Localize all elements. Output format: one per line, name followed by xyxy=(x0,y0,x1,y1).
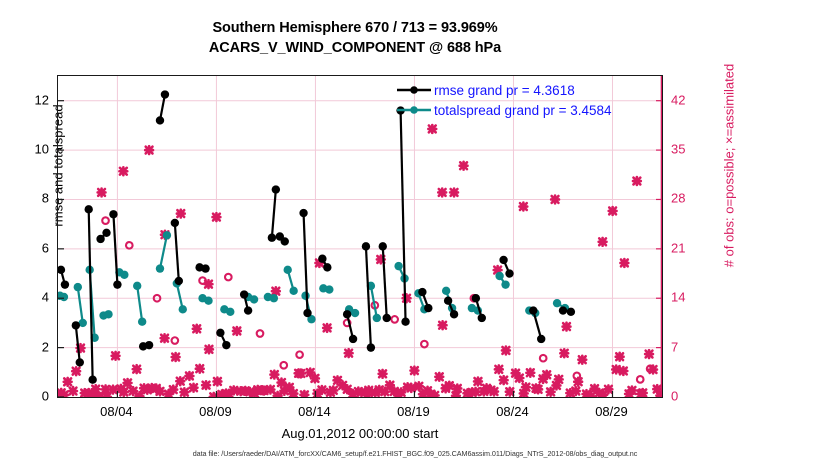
obs-assimilated-marker xyxy=(495,365,503,373)
rmse-point xyxy=(222,341,230,349)
rmse-segment xyxy=(272,190,276,238)
x-axis-label: Aug.01,2012 00:00:00 start xyxy=(57,426,663,441)
totalspread-segment xyxy=(137,286,142,322)
rmse-segment xyxy=(366,246,371,347)
obs-possible-marker xyxy=(574,373,581,380)
obs-assimilated-marker xyxy=(161,334,169,342)
rmse-point xyxy=(102,229,110,237)
rmse-point xyxy=(529,306,537,314)
totalspread-point xyxy=(442,287,450,295)
y-tick-label-left: 2 xyxy=(9,339,49,354)
rmse-point xyxy=(472,294,480,302)
obs-assimilated-marker xyxy=(270,371,278,379)
obs-assimilated-marker xyxy=(506,388,514,396)
obs-possible-marker xyxy=(280,362,287,369)
obs-assimilated-marker xyxy=(172,353,180,361)
obs-assimilated-marker xyxy=(403,294,411,302)
rmse-point xyxy=(318,255,326,263)
rmse-point xyxy=(244,306,252,314)
obs-assimilated-marker xyxy=(628,387,636,395)
totalspread-point xyxy=(104,310,112,318)
obs-assimilated-marker xyxy=(551,196,559,204)
y-tick-label-right: 7 xyxy=(671,339,711,354)
obs-possible-marker xyxy=(102,217,109,224)
obs-assimilated-marker xyxy=(572,387,580,395)
obs-assimilated-marker xyxy=(136,392,144,397)
obs-assimilated-marker xyxy=(472,388,480,396)
chart-title-line-2: ACARS_V_WIND_COMPONENT @ 688 hPa xyxy=(0,38,710,58)
observation-diagnostic-figure: Southern Hemisphere 670 / 713 = 93.969% … xyxy=(0,0,830,470)
rmse-point xyxy=(281,237,289,245)
totalspread-point xyxy=(373,314,381,322)
totalspread-point xyxy=(351,309,359,317)
obs-assimilated-marker xyxy=(124,379,132,387)
obs-assimilated-marker xyxy=(177,210,185,218)
chart-legend: rmse grand pr = 4.3618 totalspread grand… xyxy=(396,80,612,120)
totalspread-point xyxy=(394,262,402,270)
y-tick-label-left: 4 xyxy=(9,290,49,305)
obs-assimilated-marker xyxy=(428,125,436,133)
rmse-point xyxy=(499,256,507,264)
rmse-point xyxy=(303,309,311,317)
rmse-point xyxy=(343,310,351,318)
legend-item-rmse[interactable]: rmse grand pr = 4.3618 xyxy=(396,80,612,100)
obs-assimilated-marker xyxy=(534,385,542,393)
rmse-point xyxy=(156,116,164,124)
y-tick-label-right: 28 xyxy=(671,191,711,206)
obs-possible-marker xyxy=(296,351,303,358)
legend-label-totalspread: totalspread grand pr = 3.4584 xyxy=(434,103,612,118)
obs-assimilated-marker xyxy=(612,366,620,374)
rmse-point xyxy=(559,306,567,314)
obs-possible-marker xyxy=(637,376,644,383)
rmse-point xyxy=(109,210,117,218)
totalspread-point xyxy=(74,283,82,291)
obs-assimilated-marker xyxy=(453,385,461,393)
totalspread-point xyxy=(204,297,212,305)
obs-assimilated-marker xyxy=(515,374,523,382)
totalspread-point xyxy=(495,272,503,280)
obs-assimilated-marker xyxy=(318,386,326,394)
legend-item-totalspread[interactable]: totalspread grand pr = 3.4584 xyxy=(396,100,612,120)
totalspread-point xyxy=(163,231,171,239)
obs-assimilated-marker xyxy=(233,327,241,335)
totalspread-point xyxy=(501,280,509,288)
rmse-point xyxy=(379,242,387,250)
obs-assimilated-marker xyxy=(64,378,72,386)
rmse-point xyxy=(450,310,458,318)
rmse-point xyxy=(444,297,452,305)
obs-assimilated-marker xyxy=(272,287,280,295)
obs-assimilated-marker xyxy=(60,391,68,397)
totalspread-segment xyxy=(78,287,83,323)
obs-assimilated-marker xyxy=(109,386,117,394)
legend-marker-totalspread-icon xyxy=(396,103,432,117)
obs-assimilated-marker xyxy=(605,385,613,393)
obs-assimilated-marker xyxy=(633,177,641,185)
obs-assimilated-marker xyxy=(92,385,100,393)
obs-assimilated-marker xyxy=(438,188,446,196)
obs-assimilated-marker xyxy=(98,188,106,196)
y-tick-label-right: 0 xyxy=(671,389,711,404)
obs-assimilated-marker xyxy=(72,367,80,375)
obs-assimilated-marker xyxy=(289,390,297,397)
totalspread-point xyxy=(60,293,68,301)
obs-assimilated-marker xyxy=(645,350,653,358)
y-tick-label-left: 0 xyxy=(9,389,49,404)
totalspread-point xyxy=(120,271,128,279)
obs-assimilated-marker xyxy=(145,146,153,154)
obs-assimilated-marker xyxy=(176,377,184,385)
x-tick-label: 08/14 xyxy=(274,404,354,419)
obs-assimilated-marker xyxy=(329,386,337,394)
rmse-point xyxy=(323,263,331,271)
obs-assimilated-marker xyxy=(379,370,387,378)
rmse-point xyxy=(349,335,357,343)
y-axis-label-right: # of obs: o=possible; ×=assimilated xyxy=(722,16,737,316)
plot-area xyxy=(57,75,663,398)
y-tick-label-right: 42 xyxy=(671,92,711,107)
obs-assimilated-marker xyxy=(526,369,534,377)
obs-assimilated-marker xyxy=(193,325,201,333)
totalspread-point xyxy=(138,317,146,325)
obs-assimilated-marker xyxy=(620,259,628,267)
obs-assimilated-marker xyxy=(186,372,194,380)
obs-assimilated-marker xyxy=(563,323,571,331)
rmse-point xyxy=(201,264,209,272)
y-tick-label-right: 35 xyxy=(671,142,711,157)
rmse-point xyxy=(216,329,224,337)
obs-assimilated-marker xyxy=(500,376,508,384)
rmse-point xyxy=(161,90,169,98)
totalspread-point xyxy=(289,287,297,295)
x-tick-label: 08/29 xyxy=(571,404,651,419)
obs-assimilated-marker xyxy=(435,373,443,381)
rmse-point xyxy=(88,376,96,384)
obs-assimilated-marker xyxy=(214,378,222,386)
obs-assimilated-marker xyxy=(460,162,468,170)
totalspread-point xyxy=(133,282,141,290)
obs-possible-marker xyxy=(421,341,428,348)
obs-assimilated-marker xyxy=(560,349,568,357)
totalspread-point xyxy=(156,264,164,272)
obs-assimilated-marker xyxy=(431,392,439,397)
obs-assimilated-marker xyxy=(555,375,563,383)
rmse-point xyxy=(537,335,545,343)
totalspread-point xyxy=(179,305,187,313)
obs-possible-marker xyxy=(391,316,398,323)
rmse-point xyxy=(268,234,276,242)
obs-assimilated-marker xyxy=(323,324,331,332)
obs-assimilated-marker xyxy=(311,374,319,382)
data-file-note: data file: /Users/raeder/DAI/ATM_forcXX/… xyxy=(0,449,830,458)
obs-assimilated-marker xyxy=(619,367,627,375)
totalspread-point xyxy=(270,294,278,302)
rmse-point xyxy=(145,341,153,349)
rmse-point xyxy=(84,205,92,213)
legend-label-rmse: rmse grand pr = 4.3618 xyxy=(434,83,575,98)
rmse-point xyxy=(418,288,426,296)
obs-assimilated-marker xyxy=(169,386,177,394)
rmse-point xyxy=(362,242,370,250)
obs-assimilated-marker xyxy=(112,352,120,360)
obs-assimilated-marker xyxy=(407,384,415,392)
rmse-point xyxy=(96,235,104,243)
obs-possible-marker xyxy=(540,355,547,362)
rmse-point xyxy=(424,304,432,312)
obs-assimilated-marker xyxy=(133,365,141,373)
obs-assimilated-marker xyxy=(639,389,647,397)
rmse-point xyxy=(401,317,409,325)
obs-assimilated-marker xyxy=(120,388,128,396)
obs-assimilated-marker xyxy=(578,356,586,364)
rmse-point xyxy=(272,185,280,193)
obs-assimilated-marker xyxy=(190,384,198,392)
obs-assimilated-marker xyxy=(415,382,423,390)
rmse-point xyxy=(367,343,375,351)
rmse-point xyxy=(113,280,121,288)
obs-assimilated-marker xyxy=(519,203,527,211)
obs-assimilated-marker xyxy=(297,370,305,378)
obs-assimilated-marker xyxy=(474,378,482,386)
obs-assimilated-marker xyxy=(445,382,453,390)
obs-assimilated-marker xyxy=(300,391,308,397)
x-tick-label: 08/24 xyxy=(472,404,552,419)
obs-assimilated-marker xyxy=(196,365,204,373)
rmse-segment xyxy=(401,111,406,322)
obs-assimilated-marker xyxy=(490,388,498,396)
x-tick-label: 08/19 xyxy=(373,404,453,419)
rmse-point xyxy=(299,209,307,217)
rmse-segment xyxy=(113,214,117,284)
rmse-point xyxy=(58,266,65,274)
obs-possible-marker xyxy=(172,337,179,344)
rmse-point xyxy=(505,269,513,277)
obs-possible-marker xyxy=(225,274,232,281)
chart-title-block: Southern Hemisphere 670 / 713 = 93.969% … xyxy=(0,18,710,58)
x-tick-label: 08/04 xyxy=(76,404,156,419)
totalspread-point xyxy=(325,285,333,293)
plot-canvas xyxy=(58,76,662,397)
rmse-point xyxy=(567,308,575,316)
rmse-point xyxy=(171,219,179,227)
totalspread-point xyxy=(250,295,258,303)
totalspread-segment xyxy=(160,235,167,268)
obs-assimilated-marker xyxy=(345,349,353,357)
obs-assimilated-marker xyxy=(599,238,607,246)
obs-possible-marker xyxy=(199,277,206,284)
y-tick-label-right: 14 xyxy=(671,290,711,305)
rmse-point xyxy=(76,358,84,366)
obs-assimilated-marker xyxy=(450,188,458,196)
obs-assimilated-marker xyxy=(213,213,221,221)
obs-possible-marker xyxy=(126,242,133,249)
obs-assimilated-marker xyxy=(180,388,188,396)
obs-assimilated-marker xyxy=(205,345,213,353)
obs-assimilated-marker xyxy=(522,383,530,391)
rmse-point xyxy=(383,314,391,322)
obs-assimilated-marker xyxy=(439,321,447,329)
rmse-point xyxy=(61,280,69,288)
totalspread-point xyxy=(226,308,234,316)
x-tick-label: 08/09 xyxy=(175,404,255,419)
y-tick-label-left: 12 xyxy=(9,92,49,107)
rmse-segment xyxy=(175,223,179,281)
y-tick-label-left: 8 xyxy=(9,191,49,206)
obs-assimilated-marker xyxy=(156,387,164,395)
y-tick-label-left: 10 xyxy=(9,142,49,157)
y-tick-label-right: 21 xyxy=(671,240,711,255)
obs-possible-marker xyxy=(257,330,264,337)
obs-assimilated-marker xyxy=(410,367,418,375)
obs-assimilated-marker xyxy=(543,371,551,379)
obs-assimilated-marker xyxy=(278,379,286,387)
totalspread-point xyxy=(301,292,309,300)
obs-assimilated-marker xyxy=(69,387,77,395)
rmse-point xyxy=(240,290,248,298)
obs-assimilated-marker xyxy=(202,381,210,389)
totalspread-point xyxy=(553,299,561,307)
obs-assimilated-marker xyxy=(616,353,624,361)
obs-assimilated-marker xyxy=(609,207,617,215)
obs-assimilated-marker xyxy=(119,167,127,175)
chart-title-line-1: Southern Hemisphere 670 / 713 = 93.969% xyxy=(0,18,710,38)
y-tick-label-left: 6 xyxy=(9,240,49,255)
legend-marker-rmse-icon xyxy=(396,83,432,97)
rmse-point xyxy=(175,277,183,285)
rmse-point xyxy=(72,321,80,329)
obs-assimilated-marker xyxy=(502,347,510,355)
rmse-point xyxy=(478,314,486,322)
totalspread-point xyxy=(284,266,292,274)
